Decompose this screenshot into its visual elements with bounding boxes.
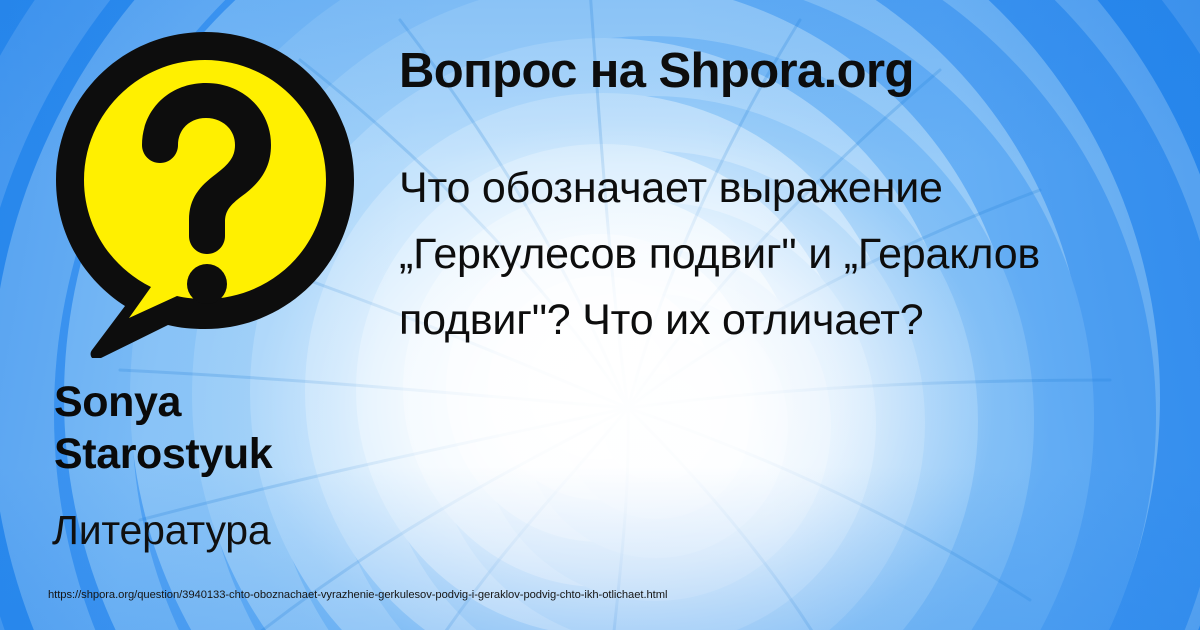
source-url[interactable]: https://shpora.org/question/3940133-chto…: [48, 589, 667, 601]
question-mark-dot: [187, 264, 227, 304]
question-speech-bubble-icon: [50, 28, 360, 358]
page-title: Вопрос на Shpora.org: [399, 44, 914, 99]
question-body-text: Что обозначает выражение „Геркулесов под…: [399, 155, 1099, 353]
subject-label: Литература: [52, 508, 271, 553]
share-card: Вопрос на Shpora.org Что обозначает выра…: [0, 0, 1200, 630]
author-name: Sonya Starostyuk: [54, 376, 394, 480]
